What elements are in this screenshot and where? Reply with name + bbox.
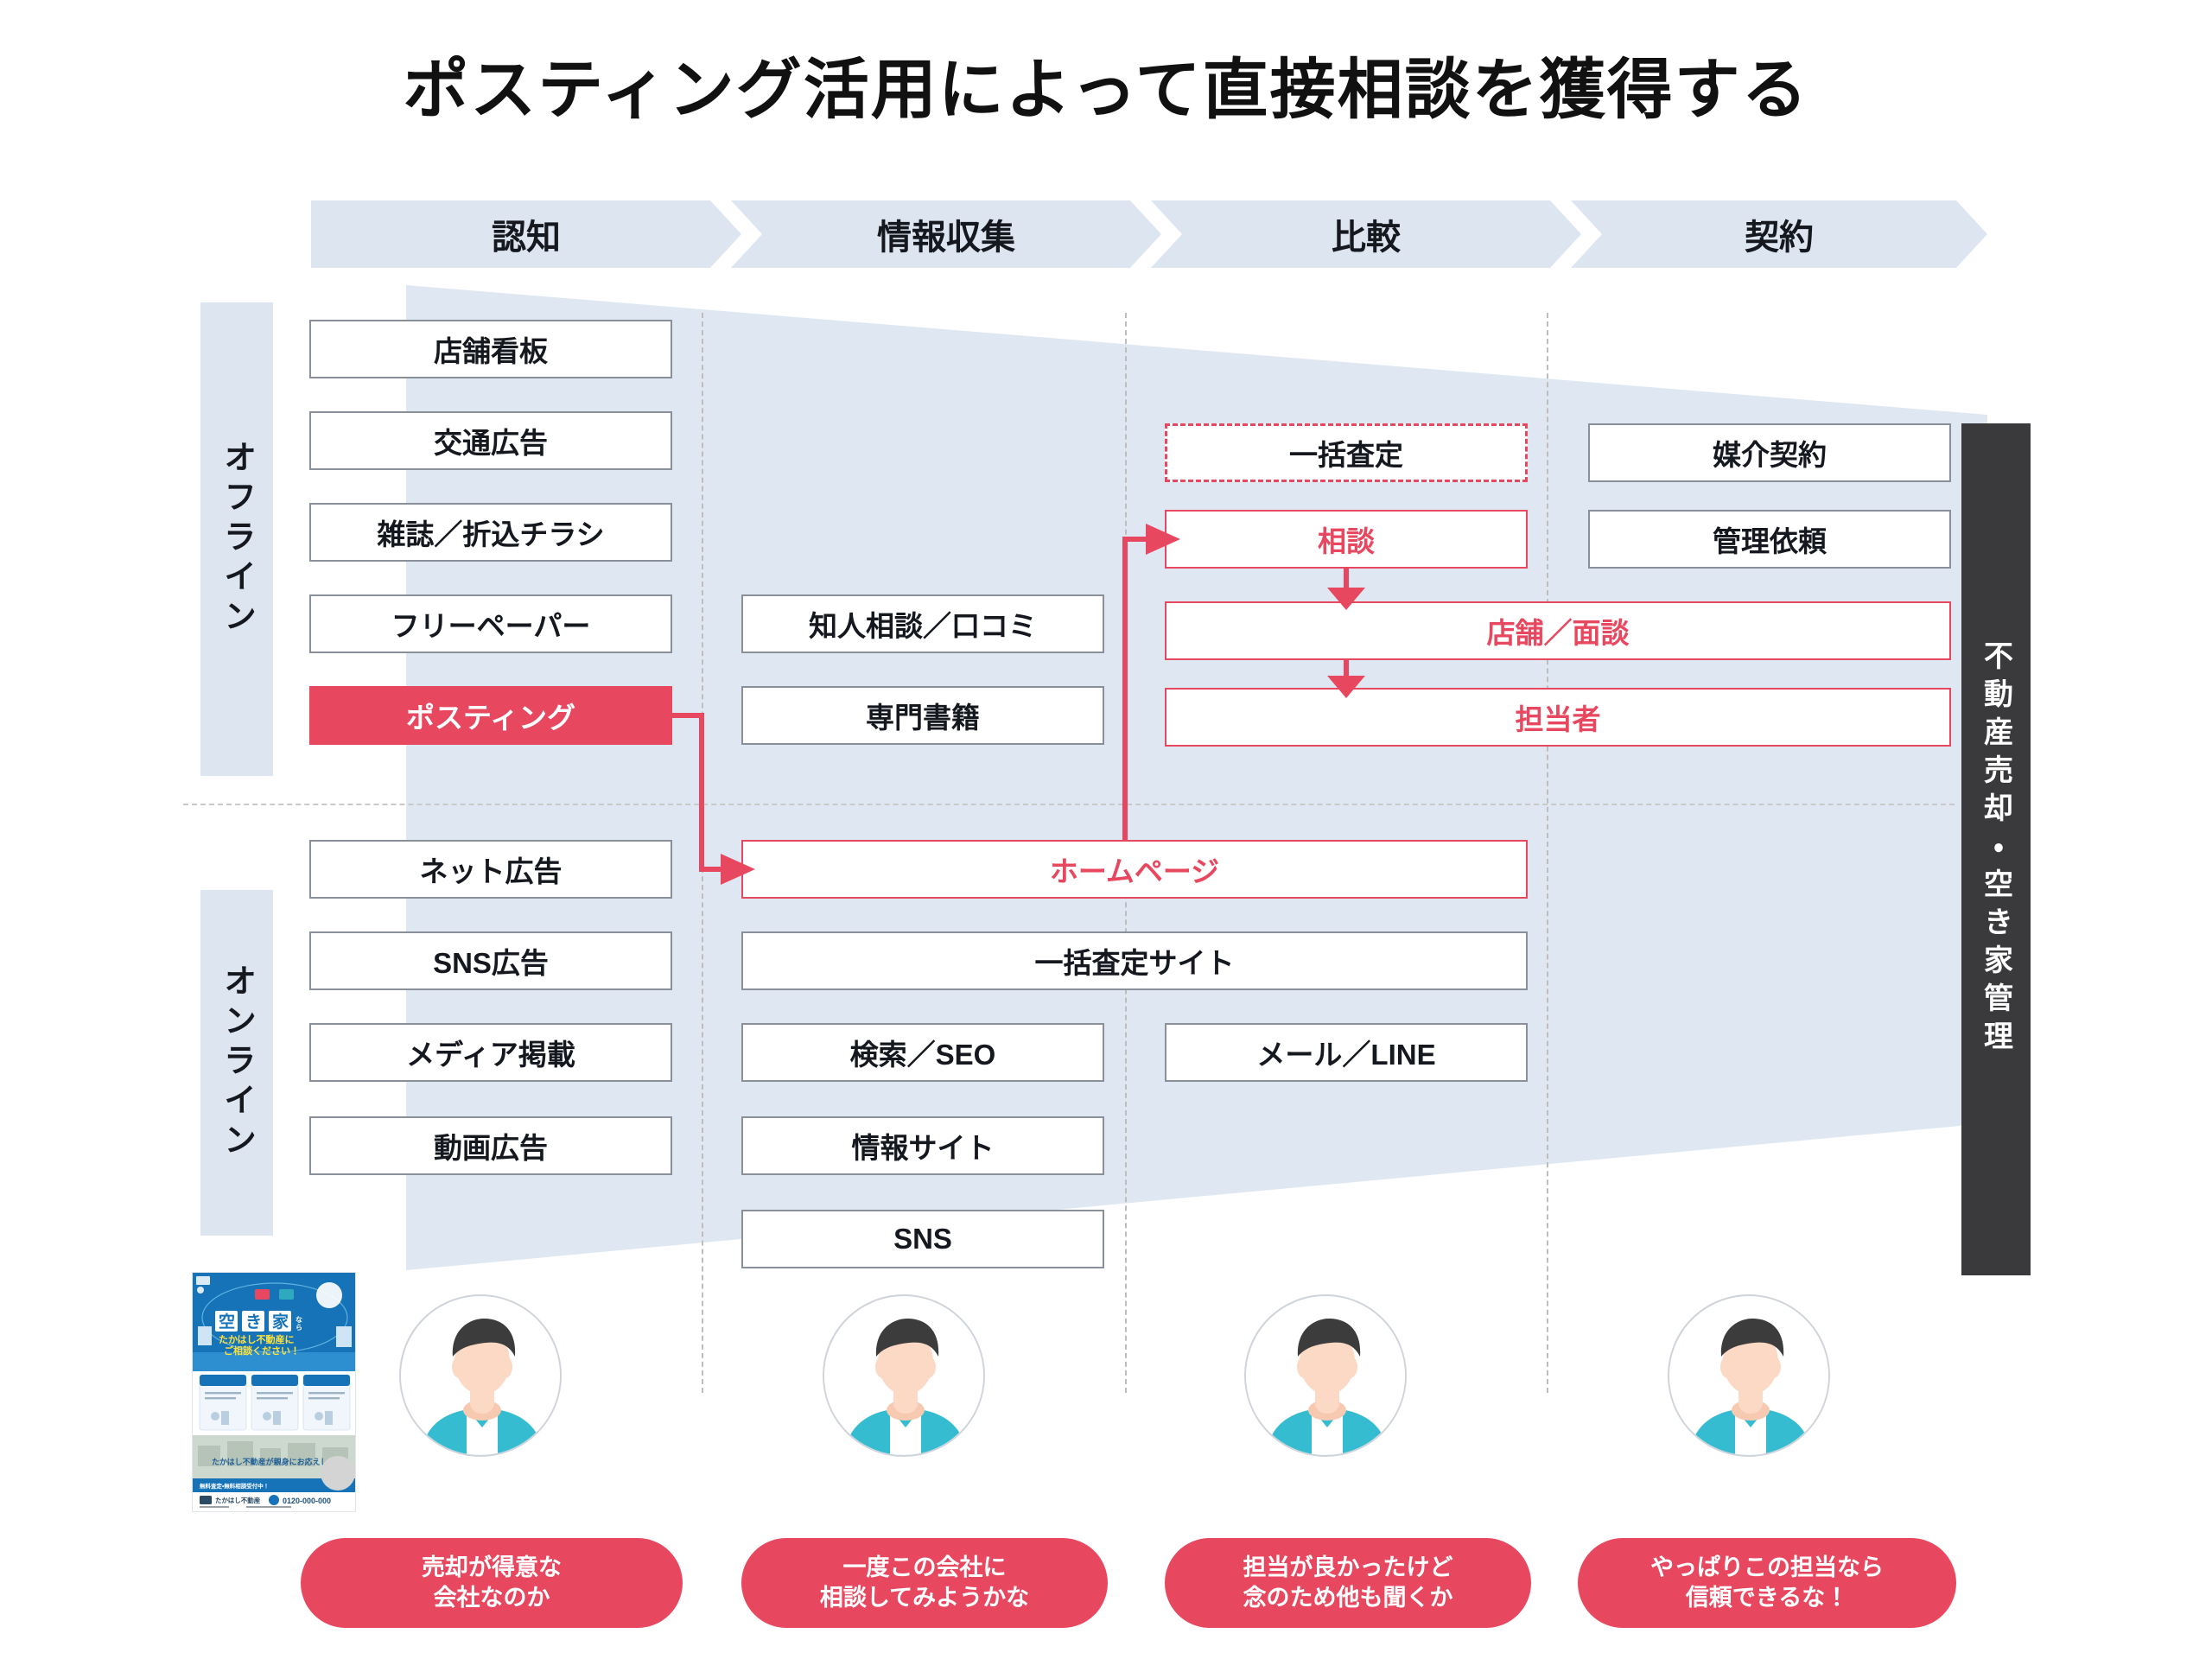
channel-box-web-ad[interactable]: ネット広告 — [309, 840, 672, 899]
channel-box-transit-ad[interactable]: 交通広告 — [309, 411, 672, 470]
channel-box-sns-ad[interactable]: SNS広告 — [309, 931, 672, 990]
customer-thought-bubble: やっぱりこの担当なら 信頼できるな！ — [1578, 1538, 1956, 1628]
channel-box-magazine-insert[interactable]: 雑誌／折込チラシ — [309, 503, 672, 562]
svg-text:無料査定・無料相談受付中！: 無料査定・無料相談受付中！ — [200, 1482, 269, 1490]
channel-label: ホームページ — [1050, 849, 1219, 890]
stage-chevron-0[interactable]: 認知 — [311, 200, 741, 268]
channel-box-info-site[interactable]: 情報サイト — [741, 1116, 1104, 1175]
channel-label: ネット広告 — [420, 849, 563, 890]
stage-label: 認知 — [492, 209, 561, 259]
avatar — [1668, 1294, 1830, 1457]
channel-box-store-interview[interactable]: 店舗／面談 — [1165, 601, 1951, 660]
stage-label: 契約 — [1745, 209, 1814, 259]
stage-label: 比較 — [1332, 209, 1401, 259]
channel-box-brokerage-contract[interactable]: 媒介契約 — [1588, 423, 1951, 482]
page-title: ポスティング活用によって直接相談を獲得する — [0, 36, 2212, 131]
svg-text:ご相談ください！: ご相談ください！ — [224, 1344, 300, 1357]
channel-box-media-feature[interactable]: メディア掲載 — [309, 1023, 672, 1082]
channel-label: メディア掲載 — [406, 1032, 575, 1073]
svg-text:たかはし不動産に: たかはし不動産に — [219, 1333, 295, 1345]
channel-label: 検索／SEO — [850, 1032, 996, 1073]
service-scope-bar: 不動産売却・空き家管理 — [1961, 423, 2031, 1275]
channel-label: 店舗／面談 — [1487, 610, 1630, 652]
svg-text:家: 家 — [272, 1312, 289, 1332]
channel-box-specialist-book[interactable]: 専門書籍 — [741, 686, 1104, 745]
customer-thought-bubble: 担当が良かったけど 念のため他も聞くか — [1165, 1538, 1531, 1628]
svg-text:な: な — [296, 1316, 302, 1324]
offline-online-divider — [183, 804, 1955, 805]
journey-diagram: ポスティング活用によって直接相談を獲得する 認知 情報収集 比較 契約 オフライ… — [0, 0, 2212, 1659]
bubble-line: 売却が得意な — [422, 1553, 562, 1583]
channel-box-word-of-mouth[interactable]: 知人相談／口コミ — [741, 594, 1104, 653]
bubble-line: 信頼できるな！ — [1686, 1583, 1848, 1613]
stage-chevron-3[interactable]: 契約 — [1571, 200, 1987, 268]
svg-text:たかはし不動産: たかはし不動産 — [215, 1496, 261, 1504]
channel-box-bulk-appraisal-site[interactable]: 一括査定サイト — [741, 931, 1528, 990]
svg-text:0120-000-000: 0120-000-000 — [283, 1497, 331, 1505]
bubble-line: 会社なのか — [434, 1583, 550, 1613]
avatar — [1244, 1294, 1407, 1457]
avatar — [399, 1294, 562, 1457]
channel-label: 相談 — [1318, 518, 1375, 560]
channel-label: 一括査定サイト — [1035, 940, 1235, 982]
channel-box-video-ad[interactable]: 動画広告 — [309, 1116, 672, 1175]
svg-text:ら: ら — [296, 1324, 302, 1332]
channel-box-search-seo[interactable]: 検索／SEO — [741, 1023, 1104, 1082]
channel-box-consultation[interactable]: 相談 — [1165, 510, 1528, 569]
stage-chevron-2[interactable]: 比較 — [1151, 200, 1581, 268]
channel-box-bulk-appraisal[interactable]: 一括査定 — [1165, 423, 1528, 482]
bubble-line: 担当が良かったけど — [1243, 1553, 1453, 1583]
channel-label: 情報サイト — [852, 1125, 995, 1166]
channel-label: SNS — [893, 1223, 952, 1255]
channel-box-representative[interactable]: 担当者 — [1165, 688, 1951, 747]
channel-box-homepage[interactable]: ホームページ — [741, 840, 1528, 899]
customer-thought-bubble: 売却が得意な 会社なのか — [301, 1538, 683, 1628]
channel-box-store-sign[interactable]: 店舗看板 — [309, 320, 672, 378]
column-separator-3 — [1547, 313, 1548, 1393]
channel-box-free-paper[interactable]: フリーペーパー — [309, 594, 672, 653]
channel-label: 雑誌／折込チラシ — [377, 512, 604, 553]
channel-box-mail-line[interactable]: メール／LINE — [1165, 1023, 1528, 1082]
channel-label: SNS広告 — [433, 940, 549, 982]
column-separator-1 — [702, 313, 703, 1393]
bubble-line: 念のため他も聞くか — [1243, 1583, 1453, 1613]
channel-label: 交通広告 — [434, 420, 548, 461]
channel-label: メール／LINE — [1256, 1032, 1435, 1073]
row-label-offline: オフライン — [200, 302, 273, 776]
channel-label: 一括査定 — [1289, 432, 1403, 474]
channel-box-sns[interactable]: SNS — [741, 1210, 1104, 1268]
stage-label: 情報収集 — [877, 209, 1015, 259]
avatar — [823, 1294, 985, 1457]
svg-text:空: 空 — [219, 1313, 235, 1332]
channel-label: 専門書籍 — [866, 695, 980, 736]
stage-chevron-1[interactable]: 情報収集 — [731, 200, 1161, 268]
svg-text:き: き — [245, 1313, 262, 1332]
customer-thought-bubble: 一度この会社に 相談してみようかな — [741, 1538, 1108, 1628]
channel-label: 動画広告 — [434, 1125, 548, 1166]
bubble-line: やっぱりこの担当なら — [1650, 1553, 1884, 1583]
channel-label: 知人相談／口コミ — [809, 603, 1037, 645]
channel-label: 店舗看板 — [434, 328, 548, 370]
row-label-online: オンライン — [200, 890, 273, 1236]
stage-header-bar: 認知 情報収集 比較 契約 — [311, 200, 1987, 268]
posting-flyer-thumbnail[interactable]: 空き家 な ら たかはし不動産に ご相談ください！ — [192, 1272, 356, 1512]
channel-label: 管理依頼 — [1713, 518, 1827, 560]
channel-label: ポスティング — [406, 695, 575, 736]
channel-label: 媒介契約 — [1713, 432, 1827, 474]
channel-label: フリーペーパー — [391, 603, 591, 645]
bubble-line: 相談してみようかな — [820, 1583, 1029, 1613]
channel-box-posting[interactable]: ポスティング — [309, 686, 672, 745]
bubble-line: 一度この会社に — [843, 1553, 1007, 1583]
channel-box-management-request[interactable]: 管理依頼 — [1588, 510, 1951, 569]
channel-label: 担当者 — [1516, 696, 1601, 738]
